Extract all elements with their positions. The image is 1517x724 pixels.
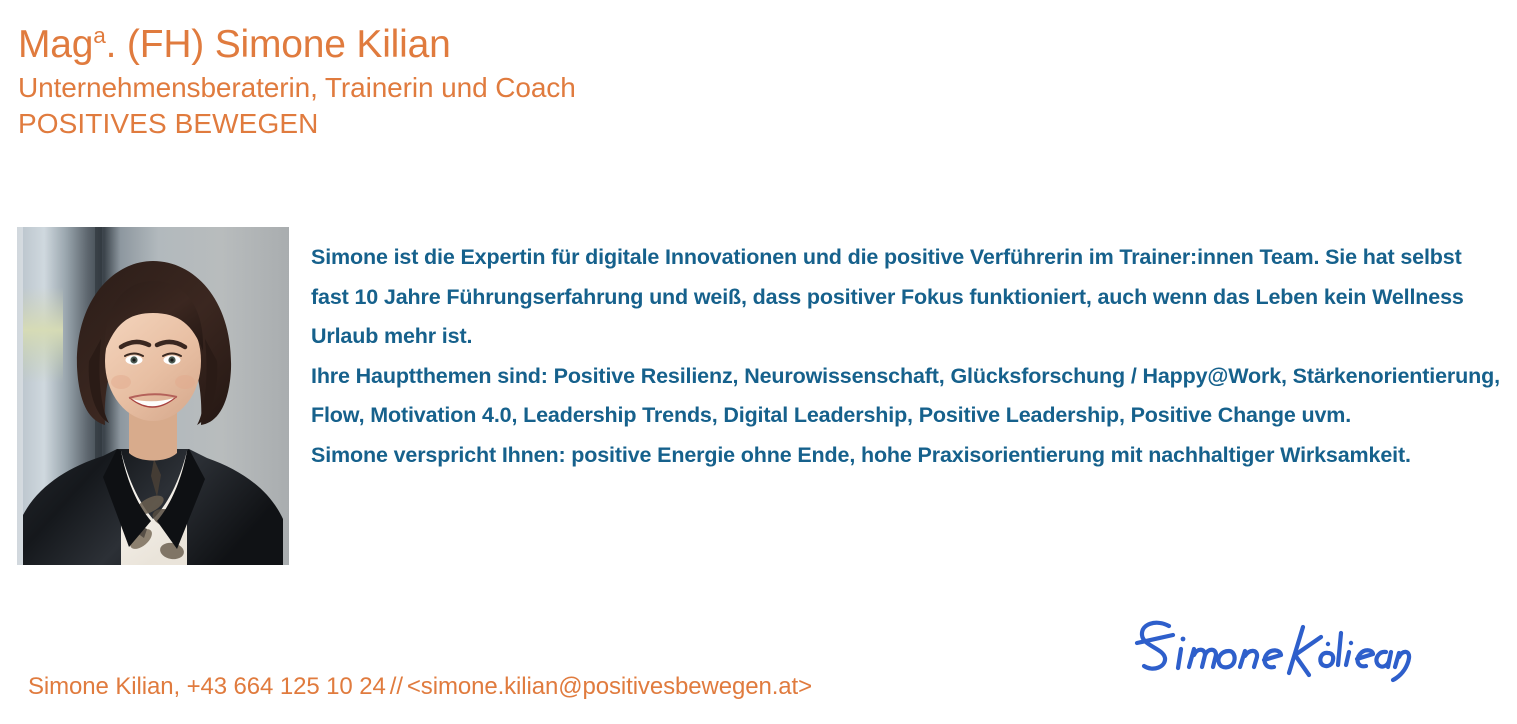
page-title: Maga. (FH) Simone Kilian xyxy=(18,22,1018,68)
footer-email[interactable]: <simone.kilian@positivesbewegen.at> xyxy=(407,673,812,700)
name-prefix: Mag xyxy=(18,23,93,66)
footer-name-phone: Simone Kilian, +43 664 125 10 24 xyxy=(28,673,386,700)
bio-paragraph-2: Ihre Hauptthemen sind: Positive Resilien… xyxy=(311,357,1501,436)
portrait-photo xyxy=(17,227,289,565)
profile-page: Maga. (FH) Simone Kilian Unternehmensber… xyxy=(0,0,1517,724)
bio-paragraph-1: Simone ist die Expertin für digitale Inn… xyxy=(311,238,1501,357)
bio-paragraph-3: Simone verspricht Ihnen: positive Energi… xyxy=(311,436,1501,476)
footer-separator: // xyxy=(386,673,407,700)
bio-text: Simone ist die Expertin für digitale Inn… xyxy=(311,238,1501,475)
brand-name: POSITIVES BEWEGEN xyxy=(18,107,1018,141)
contact-footer: Simone Kilian, +43 664 125 10 24//<simon… xyxy=(28,672,812,702)
role-subtitle: Unternehmensberaterin, Trainerin und Coa… xyxy=(18,71,1018,105)
name-rest: . (FH) Simone Kilian xyxy=(106,23,451,66)
name-superscript: a xyxy=(93,23,105,48)
signature-image xyxy=(1125,605,1425,690)
header-block: Maga. (FH) Simone Kilian Unternehmensber… xyxy=(18,22,1018,141)
